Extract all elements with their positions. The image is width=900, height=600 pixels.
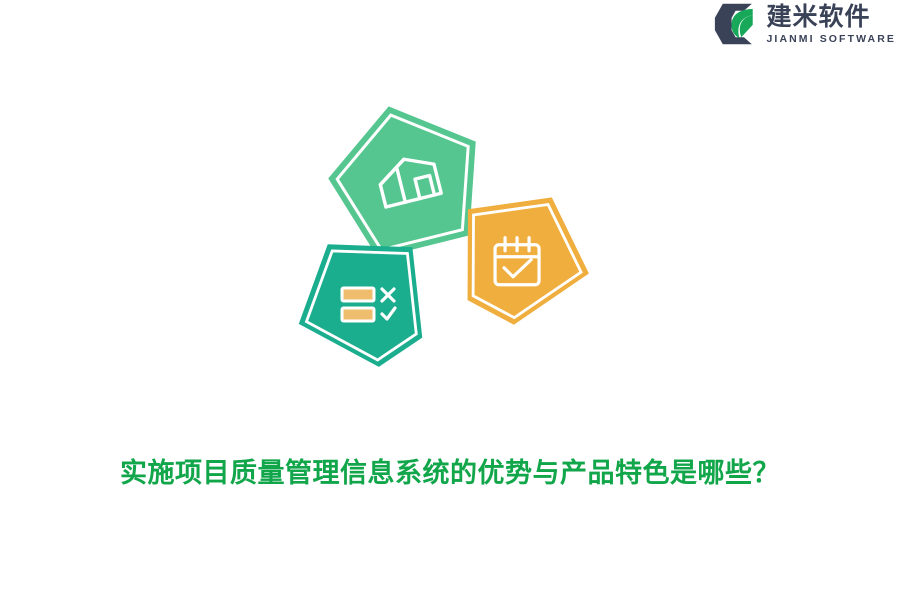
jianmi-swoosh-mark-icon <box>714 2 758 46</box>
brand-logo[interactable]: 建米软件 JIANMI SOFTWARE <box>714 0 896 48</box>
page-title: 实施项目质量管理信息系统的优势与产品特色是哪些？ <box>0 454 900 494</box>
brand-name-cn: 建米软件 <box>766 4 896 29</box>
brand-wordmark: 建米软件 JIANMI SOFTWARE <box>766 4 896 45</box>
hero-illustration <box>0 96 900 386</box>
pentagon-cluster-graphic <box>290 96 610 386</box>
brand-name-en: JIANMI SOFTWARE <box>766 34 896 45</box>
